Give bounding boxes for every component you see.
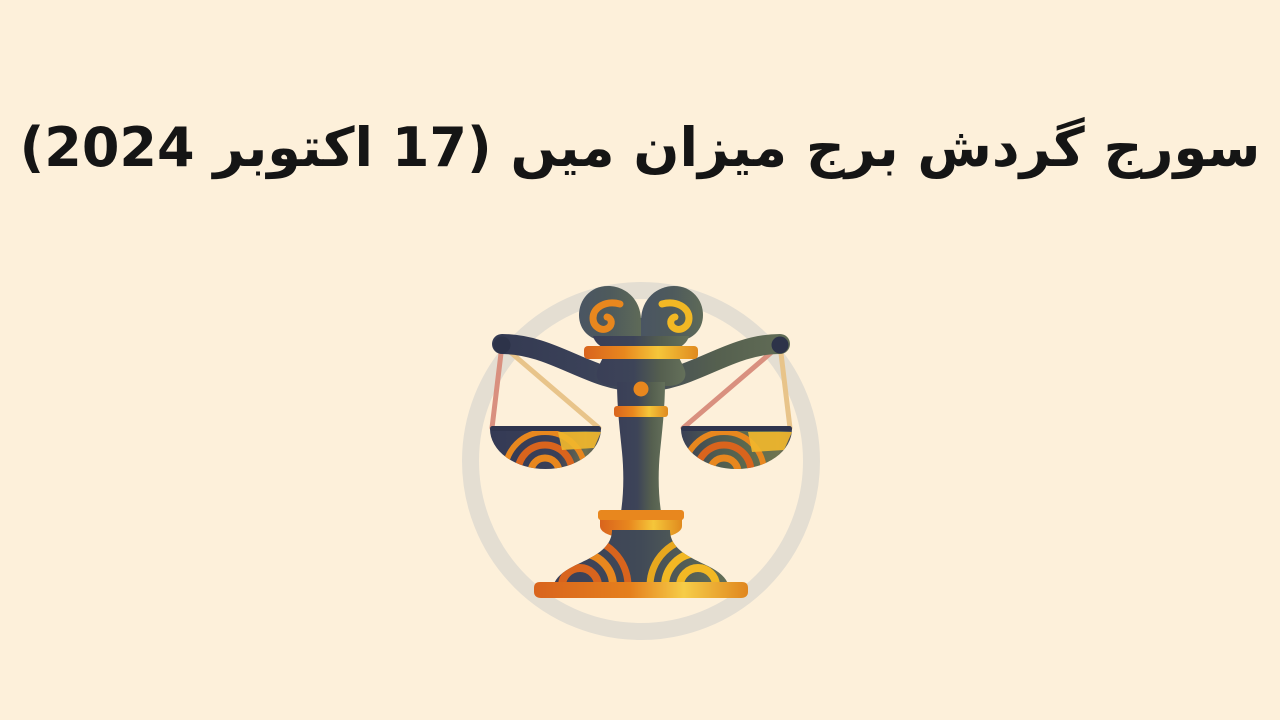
page-title: سورج گردش برج میزان میں (17 اکتوبر 2024) (20, 114, 1261, 182)
right-pan (681, 426, 792, 512)
beam-knob-left (494, 337, 511, 354)
libra-scales-icon (462, 282, 820, 640)
capital-band (584, 336, 698, 359)
page-title-container: سورج گردش برج میزان میں (17 اکتوبر 2024) (0, 78, 1280, 218)
column-band (614, 406, 668, 417)
base-plinth (534, 582, 748, 598)
center-pivot-dot (634, 382, 649, 397)
libra-banner: سورج گردش برج میزان میں (17 اکتوبر 2024) (0, 0, 1280, 720)
libra-emblem (462, 282, 820, 640)
finial-spirals (579, 286, 703, 340)
beam-knob-right (772, 337, 789, 354)
left-pan (490, 426, 601, 512)
